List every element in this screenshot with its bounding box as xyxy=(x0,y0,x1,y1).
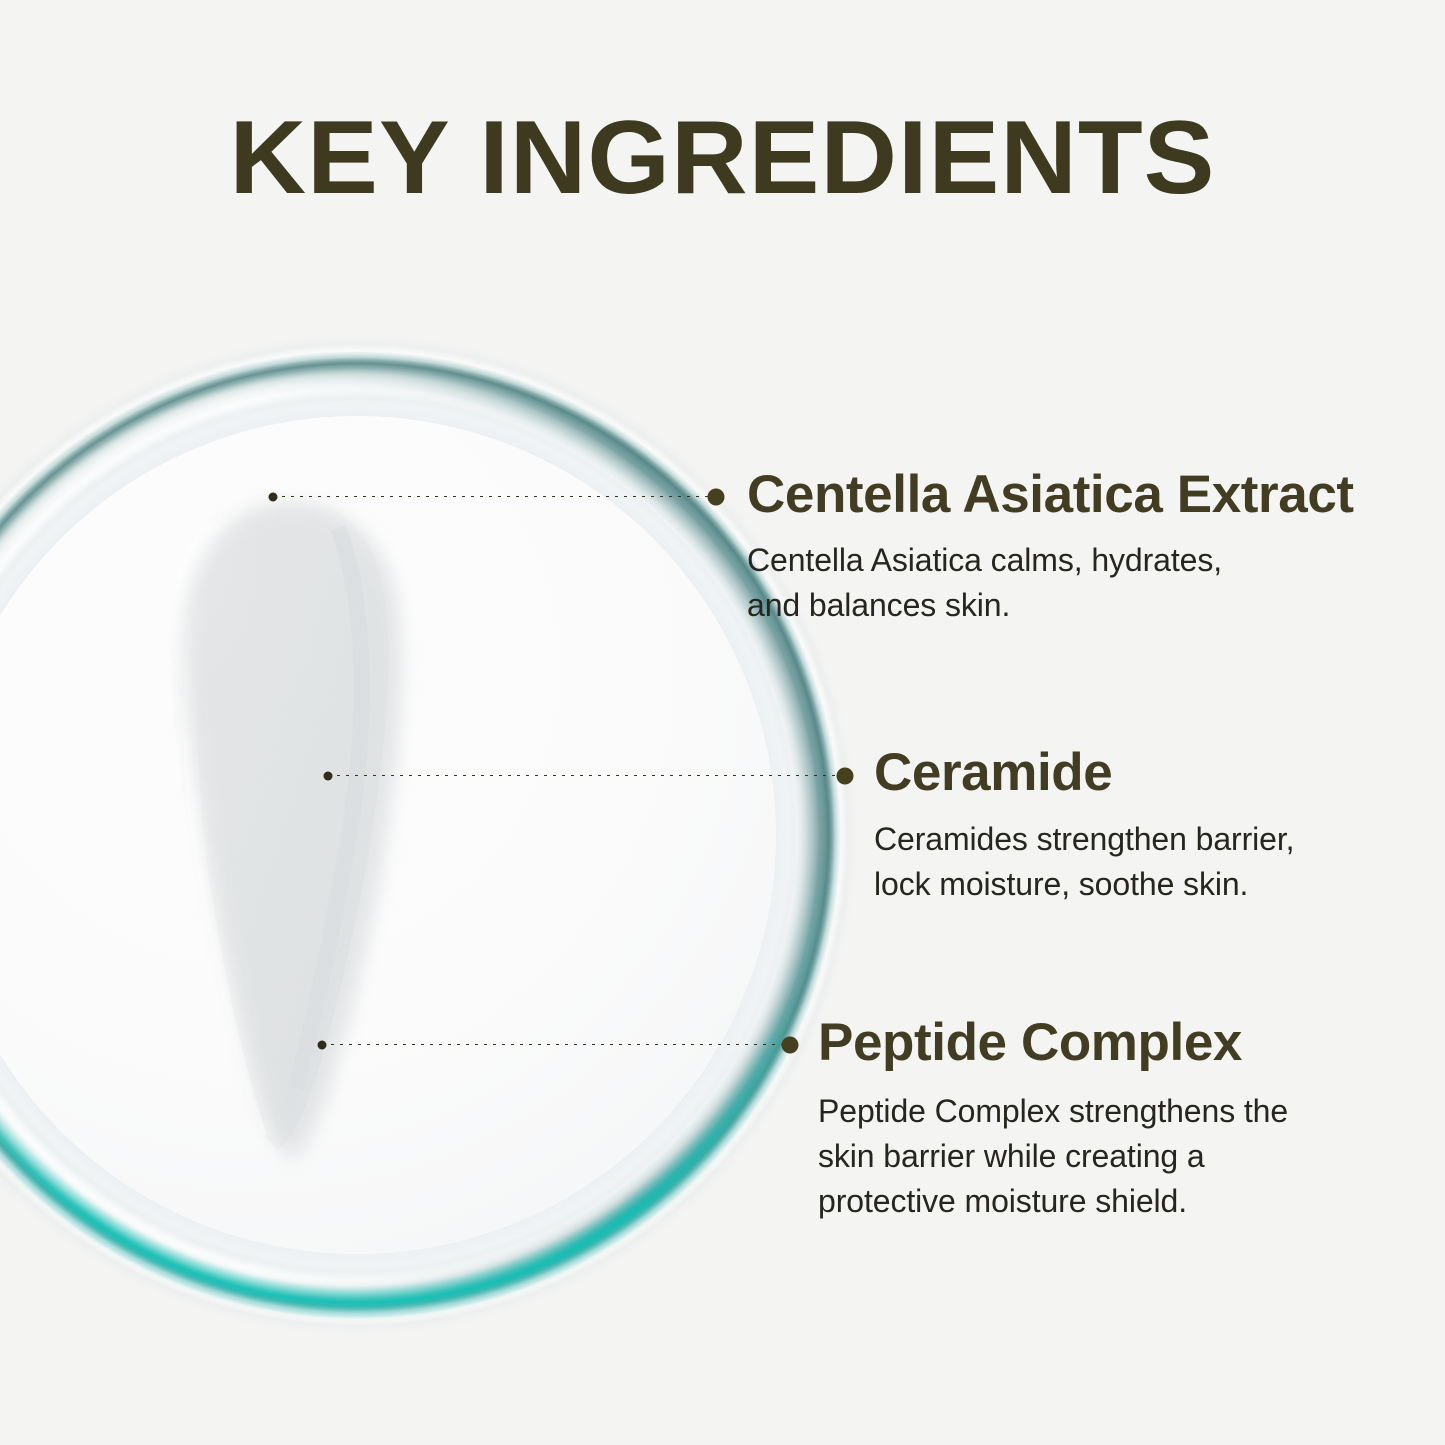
page-title: KEY INGREDIENTS xyxy=(0,106,1445,210)
dish-teal-edge-right xyxy=(0,335,857,1335)
ingredient-name-peptide: Peptide Complex xyxy=(818,1014,1288,1071)
petri-dish-illustration xyxy=(0,330,862,1340)
ingredient-description-peptide: Peptide Complex strengthens the skin bar… xyxy=(818,1089,1288,1224)
desc-line: lock moisture, soothe skin. xyxy=(874,866,1248,902)
key-ingredients-infographic: KEY INGREDIENTS xyxy=(0,0,1445,1445)
leader-line-centella xyxy=(273,495,716,498)
bullet-marker-peptide xyxy=(782,1036,799,1053)
dish-outer-rim xyxy=(0,334,858,1336)
desc-line: Peptide Complex strengthens the xyxy=(818,1093,1288,1129)
dish-glass-band-3 xyxy=(0,398,794,1272)
cream-swatch xyxy=(128,488,418,1160)
cream-swatch-shape xyxy=(128,488,418,1160)
leader-dashes xyxy=(273,496,716,497)
desc-line: skin barrier while creating a xyxy=(818,1138,1205,1174)
dish-interior xyxy=(0,416,776,1254)
leader-line-ceramide xyxy=(328,774,845,777)
bullet-marker-ceramide xyxy=(837,767,854,784)
desc-line: Centella Asiatica calms, hydrates, xyxy=(747,542,1222,578)
leader-dashes xyxy=(328,775,845,776)
cream-swatch-shadow xyxy=(142,498,432,1170)
ingredient-block-centella: Centella Asiatica Extract Centella Asiat… xyxy=(747,466,1354,628)
dish-teal-glow-bottom xyxy=(0,334,858,1336)
dish-glass-band-2 xyxy=(0,377,815,1293)
ingredient-block-ceramide: Ceramide Ceramides strengthen barrier, l… xyxy=(874,744,1294,907)
desc-line: and balances skin. xyxy=(747,587,1010,623)
desc-line: Ceramides strengthen barrier, xyxy=(874,821,1294,857)
dish-drop-shadow xyxy=(0,372,866,1347)
ingredient-block-peptide: Peptide Complex Peptide Complex strength… xyxy=(818,1014,1288,1224)
desc-line: protective moisture shield. xyxy=(818,1183,1187,1219)
ingredient-name-ceramide: Ceramide xyxy=(874,744,1294,801)
leader-line-peptide xyxy=(322,1043,790,1046)
ingredient-name-centella: Centella Asiatica Extract xyxy=(747,466,1354,523)
bullet-marker-centella xyxy=(708,488,725,505)
leader-dashes xyxy=(322,1044,790,1045)
ingredient-description-ceramide: Ceramides strengthen barrier, lock moist… xyxy=(874,817,1294,907)
ingredient-description-centella: Centella Asiatica calms, hydrates, and b… xyxy=(747,538,1354,628)
